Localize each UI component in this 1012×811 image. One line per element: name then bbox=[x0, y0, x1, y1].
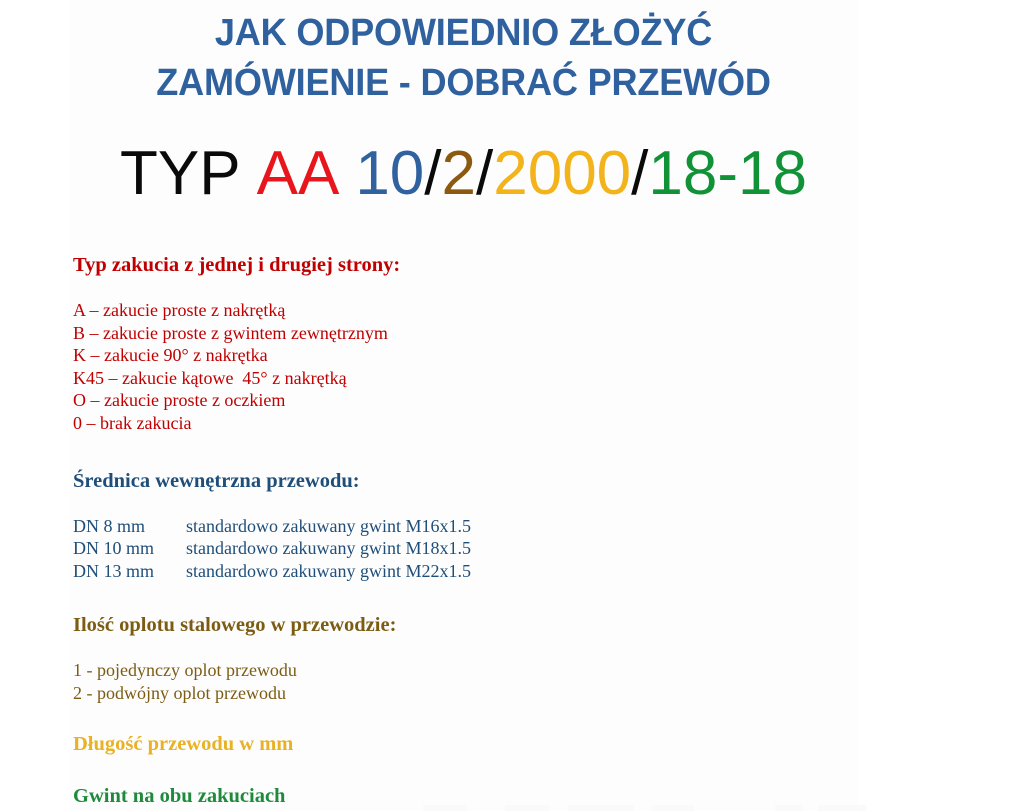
type-code-thread: 18-18 bbox=[648, 139, 807, 208]
dn-label: DN 8 mm bbox=[73, 515, 186, 538]
list-item: B – zakucie proste z gwintem zewnętrznym bbox=[73, 322, 858, 345]
dn-value: standardowo zakuwany gwint M18x1.5 bbox=[186, 538, 471, 558]
type-code-prefix: TYP bbox=[120, 139, 241, 208]
slide-title-line-2: ZAMÓWIENIE - DOBRAĆ PRZEWÓD bbox=[89, 58, 839, 108]
list-item: 2 - podwójny oplot przewodu bbox=[73, 682, 858, 705]
section-fitting-type-list: A – zakucie proste z nakrętką B – zakuci… bbox=[73, 299, 858, 435]
spacer bbox=[73, 705, 858, 731]
list-item: O – zakucie proste z oczkiem bbox=[73, 389, 858, 412]
type-code-separator-3: / bbox=[631, 139, 648, 208]
section-hose-length: Długość przewodu w mm bbox=[73, 731, 858, 757]
list-item: 1 - pojedynczy oplot przewodu bbox=[73, 659, 858, 682]
section-steel-braid-heading: Ilość oplotu stalowego w przewodzie: bbox=[73, 612, 858, 638]
section-fitting-type: Typ zakucia z jednej i drugiej strony: A… bbox=[73, 252, 858, 435]
legend-sections: Typ zakucia z jednej i drugiej strony: A… bbox=[73, 252, 858, 809]
dn-label: DN 13 mm bbox=[73, 560, 186, 583]
slide-title-line-1: JAK ODPOWIEDNIO ZŁOŻYĆ bbox=[89, 8, 839, 58]
type-code-inner-diameter: 10 bbox=[355, 139, 424, 208]
list-item: A – zakucie proste z nakrętką bbox=[73, 299, 858, 322]
dn-value: standardowo zakuwany gwint M16x1.5 bbox=[186, 516, 471, 536]
type-code-separator-1: / bbox=[424, 139, 441, 208]
section-fitting-type-heading: Typ zakucia z jednej i drugiej strony: bbox=[73, 252, 858, 278]
spacer bbox=[73, 757, 858, 783]
type-code-length: 2000 bbox=[493, 139, 631, 208]
list-item: 0 – brak zakucia bbox=[73, 412, 858, 435]
table-row: DN 10 mmstandardowo zakuwany gwint M18x1… bbox=[73, 537, 858, 560]
dn-label: DN 10 mm bbox=[73, 537, 186, 560]
type-code-fitting: AA bbox=[257, 139, 340, 208]
dn-value: standardowo zakuwany gwint M22x1.5 bbox=[186, 561, 471, 581]
spacer bbox=[73, 582, 858, 612]
section-steel-braid: Ilość oplotu stalowego w przewodzie: 1 -… bbox=[73, 612, 858, 704]
section-thread-both-ends: Gwint na obu zakuciach bbox=[73, 783, 858, 809]
table-row: DN 13 mmstandardowo zakuwany gwint M22x1… bbox=[73, 560, 858, 583]
list-item: K45 – zakucie kątowe 45° z nakrętką bbox=[73, 367, 858, 390]
slide-title: JAK ODPOWIEDNIO ZŁOŻYĆ ZAMÓWIENIE - DOBR… bbox=[69, 8, 858, 108]
spacer bbox=[73, 278, 858, 299]
type-code-example: TYPAA10/2/2000/18-18 bbox=[69, 135, 858, 213]
section-thread-both-ends-heading: Gwint na obu zakuciach bbox=[73, 783, 858, 809]
section-steel-braid-list: 1 - pojedynczy oplot przewodu 2 - podwój… bbox=[73, 659, 858, 704]
spacer bbox=[73, 494, 858, 515]
type-code-separator-2: / bbox=[476, 139, 493, 208]
slide-canvas: JAK ODPOWIEDNIO ZŁOŻYĆ ZAMÓWIENIE - DOBR… bbox=[0, 0, 1012, 811]
spacer bbox=[73, 435, 858, 468]
table-row: DN 8 mmstandardowo zakuwany gwint M16x1.… bbox=[73, 515, 858, 538]
section-inner-diameter-table: DN 8 mmstandardowo zakuwany gwint M16x1.… bbox=[73, 515, 858, 583]
type-code-braid: 2 bbox=[442, 139, 476, 208]
list-item: K – zakucie 90° z nakrętka bbox=[73, 344, 858, 367]
section-inner-diameter: Średnica wewnętrzna przewodu: DN 8 mmsta… bbox=[73, 468, 858, 583]
spacer bbox=[73, 638, 858, 659]
section-hose-length-heading: Długość przewodu w mm bbox=[73, 731, 858, 757]
section-inner-diameter-heading: Średnica wewnętrzna przewodu: bbox=[73, 468, 858, 494]
